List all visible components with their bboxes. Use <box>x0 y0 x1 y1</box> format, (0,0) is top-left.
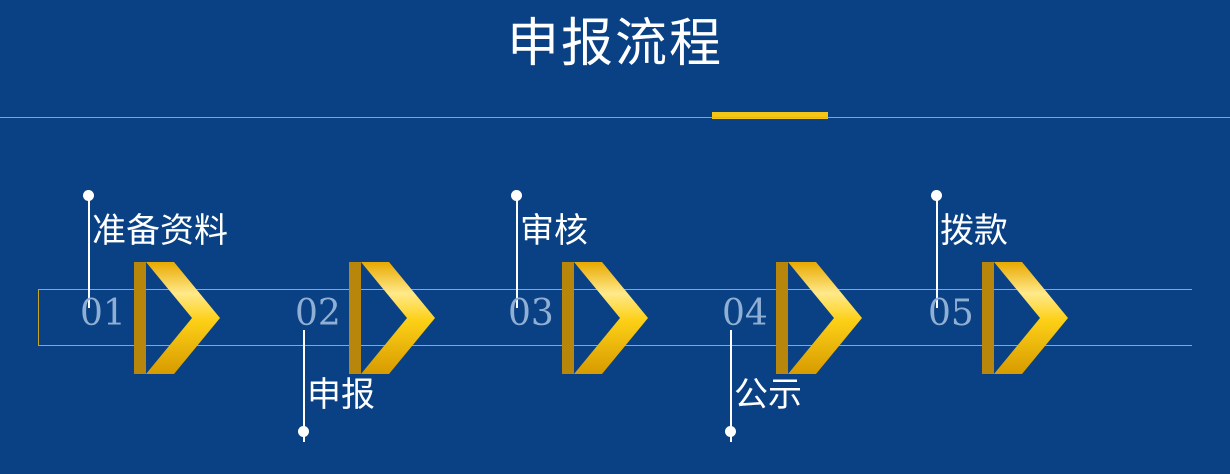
step-number: 05 <box>928 296 974 332</box>
timeline-step-01[interactable]: 准备资料 01 <box>50 0 270 474</box>
timeline-step-02[interactable]: 02 申报 <box>265 0 485 474</box>
chevron-arrow-icon <box>349 262 435 374</box>
chevron-arrow-icon <box>134 262 220 374</box>
step-label: 拨款 <box>940 214 1008 248</box>
step-number: 01 <box>80 296 126 332</box>
connector-stem <box>516 196 518 308</box>
step-label: 公示 <box>734 378 802 412</box>
step-number: 04 <box>722 296 768 332</box>
timeline-step-03[interactable]: 审核 03 <box>478 0 698 474</box>
connector-dot-icon <box>298 426 309 437</box>
slide-canvas: 申报流程 准备资料 01 <box>0 0 1230 474</box>
timeline-step-04[interactable]: 04 公示 <box>692 0 912 474</box>
connector-dot-icon <box>725 426 736 437</box>
timeline-step-05[interactable]: 拨款 05 <box>898 0 1118 474</box>
chevron-arrow-icon <box>562 262 648 374</box>
step-number: 02 <box>295 296 341 332</box>
step-label: 准备资料 <box>92 214 228 248</box>
chevron-arrow-icon <box>776 262 862 374</box>
chevron-arrow-icon <box>982 262 1068 374</box>
step-number: 03 <box>508 296 554 332</box>
connector-stem <box>88 196 90 308</box>
step-label: 审核 <box>520 214 588 248</box>
timeline-rail-cap <box>38 289 39 346</box>
step-label: 申报 <box>307 378 375 412</box>
connector-stem <box>936 196 938 308</box>
